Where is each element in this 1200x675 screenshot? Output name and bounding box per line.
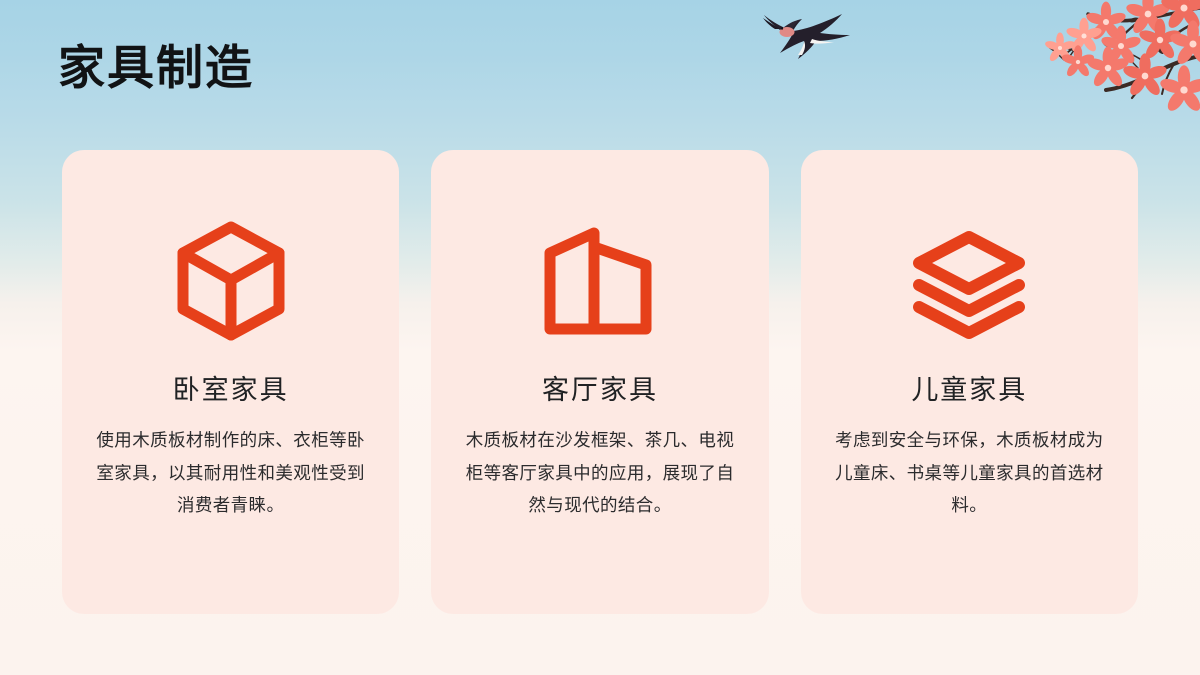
cherry-blossom-branch-icon bbox=[988, 0, 1200, 122]
feature-card-title: 客厅家具 bbox=[542, 374, 658, 406]
feature-card-title: 卧室家具 bbox=[173, 374, 289, 406]
feature-card-bedroom[interactable]: 卧室家具 使用木质板材制作的床、衣柜等卧室家具，以其耐用性和美观性受到消费者青睐… bbox=[62, 150, 399, 614]
slide-root: 家具制造 卧室家具 使用木质板材制作的床、衣柜等卧室家具，以其耐用性和美观性受到… bbox=[0, 0, 1200, 675]
feature-card-body: 木质板材在沙发框架、茶几、电视柜等客厅家具中的应用，展现了自然与现代的结合。 bbox=[457, 424, 742, 521]
feature-card-body: 考虑到安全与环保，木质板材成为儿童床、书桌等儿童家具的首选材料。 bbox=[827, 424, 1112, 521]
layers-stack-icon bbox=[894, 206, 1044, 356]
feature-card-body: 使用木质板材制作的床、衣柜等卧室家具，以其耐用性和美观性受到消费者青睐。 bbox=[88, 424, 373, 521]
feature-card-title: 儿童家具 bbox=[911, 374, 1027, 406]
feature-card-livingroom[interactable]: 客厅家具 木质板材在沙发框架、茶几、电视柜等客厅家具中的应用，展现了自然与现代的… bbox=[431, 150, 768, 614]
feature-card-list: 卧室家具 使用木质板材制作的床、衣柜等卧室家具，以其耐用性和美观性受到消费者青睐… bbox=[62, 150, 1138, 614]
cube-box-icon bbox=[156, 206, 306, 356]
feature-card-children[interactable]: 儿童家具 考虑到安全与环保，木质板材成为儿童床、书桌等儿童家具的首选材料。 bbox=[801, 150, 1138, 614]
page-title: 家具制造 bbox=[58, 44, 254, 96]
swallow-bird-icon bbox=[762, 14, 852, 66]
building-panels-icon bbox=[525, 206, 675, 356]
